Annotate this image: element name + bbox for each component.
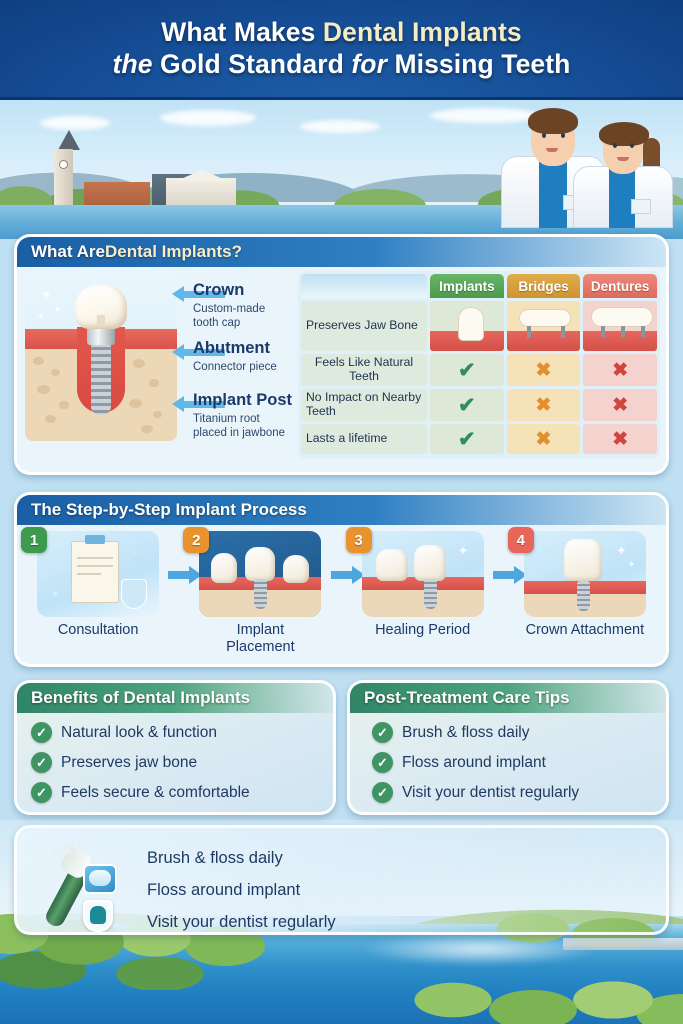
check-icon: ✔ <box>458 360 476 381</box>
row-label-no-impact: No Impact on Nearby Teeth <box>301 389 427 421</box>
part-desc-crown: Custom-made tooth cap <box>193 303 265 330</box>
column-header-dentures: Dentures <box>583 274 657 298</box>
eye <box>613 143 617 148</box>
cell-dentures-feels: ✖ <box>583 354 657 386</box>
clipboard-clip <box>85 535 105 544</box>
tooth-bridge-image <box>507 301 581 351</box>
implant-process-card: The Step-by-Step Implant Process ✦ ✦ 1 <box>14 492 669 667</box>
column-header-implants: Implants <box>430 274 504 298</box>
coat-pocket <box>631 199 651 214</box>
step-2-label: Implant Placement <box>179 622 341 655</box>
care-tip-item: ✓ Visit your dentist regularly <box>372 782 666 803</box>
cross-icon: ✖ <box>536 396 552 415</box>
cell-bridges-feels: ✖ <box>507 354 581 386</box>
cell-dentures-no-impact: ✖ <box>583 389 657 421</box>
check-circle-icon: ✓ <box>372 782 393 803</box>
bottom-tip-label: Brush & floss daily <box>147 849 283 868</box>
check-circle-icon: ✓ <box>372 752 393 773</box>
care-tips-list: ✓ Brush & floss daily ✓ Floss around imp… <box>350 713 666 803</box>
shield-tooth-inner <box>90 906 106 924</box>
implant-post-screw <box>91 343 111 415</box>
clock-tower-spire <box>58 130 80 150</box>
bottom-care-strip: Brush & floss daily Floss around implant… <box>14 825 669 935</box>
sparkle-icon: ✦ <box>129 545 140 561</box>
cell-dentures-preserves <box>583 301 657 351</box>
floss-box-icon <box>83 864 117 894</box>
cell-implants-feels: ✔ <box>430 354 504 386</box>
process-step-1[interactable]: ✦ ✦ 1 Consultation <box>17 525 179 665</box>
benefit-label: Natural look & function <box>61 724 217 742</box>
bottom-tip-item: Brush & floss daily <box>147 842 336 874</box>
tooth-implant-image <box>430 301 504 351</box>
part-title-implant-post: Implant Post <box>193 391 292 410</box>
process-body: ✦ ✦ 1 Consultation 2 <box>17 525 666 667</box>
step-3-number: 3 <box>354 532 362 549</box>
step-4-label: Crown Attachment <box>504 622 666 639</box>
tooth-denture-image <box>583 301 657 351</box>
care-tips-header: Post-Treatment Care Tips <box>350 683 666 713</box>
bottom-tip-item: Visit your dentist regularly <box>147 906 336 935</box>
check-circle-icon: ✓ <box>31 752 52 773</box>
shield-tooth-icon <box>83 900 113 932</box>
eye <box>630 143 634 148</box>
step-2-badge: 2 <box>183 527 209 553</box>
eye <box>542 133 546 138</box>
hair <box>528 108 578 134</box>
clipboard-icon <box>71 541 119 603</box>
scrub-top <box>539 156 567 228</box>
check-circle-icon: ✓ <box>31 782 52 803</box>
step-4-image: ✦ ✦ <box>524 531 646 617</box>
cloud-shape <box>160 110 256 126</box>
sparkle-icon: ✦ <box>458 543 469 559</box>
benefit-item: ✓ Preserves jaw bone <box>31 752 333 773</box>
process-step-2[interactable]: 2 Implant Placement <box>179 525 341 665</box>
step-1-badge: 1 <box>21 527 47 553</box>
cell-implants-no-impact: ✔ <box>430 389 504 421</box>
scrub-top <box>609 166 635 228</box>
title-line2-for: for <box>351 49 394 79</box>
process-step-4[interactable]: ✦ ✦ 4 Crown Attachment <box>504 525 666 665</box>
abutment-part <box>87 327 115 345</box>
care-tips-card: Post-Treatment Care Tips ✓ Brush & floss… <box>347 680 669 815</box>
sparkle-icon: ✦ <box>53 305 61 316</box>
step-3-label: Healing Period <box>342 622 504 639</box>
sparkle-icon: ✦ <box>37 311 45 322</box>
cell-dentures-lasts: ✖ <box>583 424 657 454</box>
sparkle-icon: ✦ <box>41 287 52 303</box>
clock-tower <box>54 149 73 209</box>
title-line2-the: the <box>113 49 161 79</box>
step-1-label: Consultation <box>17 622 179 639</box>
row-label-feels-natural: Feels Like Natural Teeth <box>301 354 427 386</box>
benefit-item: ✓ Feels secure & comfortable <box>31 782 333 803</box>
benefits-card: Benefits of Dental Implants ✓ Natural lo… <box>14 680 336 815</box>
part-desc-implant-post: Titanium root placed in jawbone <box>193 413 285 440</box>
sparkle-icon: ✦ <box>51 589 59 600</box>
shield-tooth-icon <box>121 579 147 609</box>
title-line2-gold-standard: Gold Standard <box>160 49 351 79</box>
eye <box>561 133 565 138</box>
title-line1-highlight: Dental Implants <box>323 17 522 47</box>
benefit-item: ✓ Natural look & function <box>31 722 333 743</box>
check-icon: ✔ <box>458 395 476 416</box>
cell-implants-preserves <box>430 301 504 351</box>
step-4-badge: 4 <box>508 527 534 553</box>
sparkle-icon: ✦ <box>628 559 636 570</box>
what-are-implants-card: What Are Dental Implants? <box>14 234 669 475</box>
part-title-crown: Crown <box>193 281 244 300</box>
bridge <box>563 938 683 950</box>
cell-bridges-preserves <box>507 301 581 351</box>
cell-implants-lasts: ✔ <box>430 424 504 454</box>
part-desc-abutment: Connector piece <box>193 361 277 375</box>
comparison-grid: Implants Bridges Dentures Preserves Jaw … <box>301 274 657 454</box>
row-label-preserves-jaw-bone: Preserves Jaw Bone <box>301 301 427 351</box>
process-step-3[interactable]: ✦ 3 Healing Period <box>342 525 504 665</box>
what-are-implants-body: ✦ ✦ ✦ Crown Custom-made tooth cap Abutme… <box>17 267 666 475</box>
care-tip-label: Brush & floss daily <box>402 724 530 742</box>
bottom-tip-item: Floss around implant <box>147 874 336 906</box>
benefits-header: Benefits of Dental Implants <box>17 683 333 713</box>
process-header: The Step-by-Step Implant Process <box>17 495 666 525</box>
care-tip-label: Visit your dentist regularly <box>402 784 579 802</box>
care-tip-item: ✓ Floss around implant <box>372 752 666 773</box>
title-banner: What Makes Dental Implants the Gold Stan… <box>0 0 683 100</box>
header-text-plain: What Are <box>31 242 105 262</box>
step-3-image: ✦ <box>362 531 484 617</box>
cross-icon: ✖ <box>612 430 628 449</box>
header-text-highlight: Dental Implants? <box>105 242 242 262</box>
row-label-lasts-lifetime: Lasts a lifetime <box>301 424 427 454</box>
benefits-list: ✓ Natural look & function ✓ Preserves ja… <box>17 713 333 803</box>
check-circle-icon: ✓ <box>372 722 393 743</box>
step-1-image: ✦ ✦ <box>37 531 159 617</box>
table-corner-cell <box>301 274 427 298</box>
forest-right <box>393 970 683 1024</box>
title-line1-plain: What Makes <box>161 17 323 47</box>
step-4-number: 4 <box>517 532 525 549</box>
benefit-label: Preserves jaw bone <box>61 754 197 772</box>
cell-bridges-no-impact: ✖ <box>507 389 581 421</box>
dentists-illustration <box>495 100 679 228</box>
cross-icon: ✖ <box>536 430 552 449</box>
cloud-shape <box>40 116 110 130</box>
step-2-image <box>199 531 321 617</box>
what-are-implants-header: What Are Dental Implants? <box>17 237 666 267</box>
cross-icon: ✖ <box>612 396 628 415</box>
step-2-number: 2 <box>192 532 200 549</box>
title-line2-missing-teeth: Missing Teeth <box>394 49 570 79</box>
comparison-table: Implants Bridges Dentures Preserves Jaw … <box>298 271 660 459</box>
cell-bridges-lasts: ✖ <box>507 424 581 454</box>
process-steps: ✦ ✦ 1 Consultation 2 <box>17 525 666 665</box>
building-pediment <box>176 170 228 181</box>
sparkle-icon: ✦ <box>616 543 627 559</box>
check-circle-icon: ✓ <box>31 722 52 743</box>
clock-face-icon <box>59 160 68 169</box>
female-dentist <box>573 116 673 228</box>
care-tip-item: ✓ Brush & floss daily <box>372 722 666 743</box>
check-icon: ✔ <box>458 429 476 450</box>
cross-icon: ✖ <box>536 361 552 380</box>
step-1-number: 1 <box>30 532 38 549</box>
step-3-badge: 3 <box>346 527 372 553</box>
care-tip-label: Floss around implant <box>402 754 546 772</box>
part-title-abutment: Abutment <box>193 339 270 358</box>
crown-notch <box>97 315 105 327</box>
column-header-bridges: Bridges <box>507 274 581 298</box>
bottom-tip-label: Visit your dentist regularly <box>147 913 336 932</box>
bottom-tips-list: Brush & floss daily Floss around implant… <box>147 842 336 935</box>
bottom-tip-label: Floss around implant <box>147 881 300 900</box>
hair <box>599 122 649 146</box>
implant-anatomy-diagram: ✦ ✦ ✦ <box>25 271 177 441</box>
floss-lid <box>89 870 111 886</box>
cross-icon: ✖ <box>612 361 628 380</box>
page-title: What Makes Dental Implants the Gold Stan… <box>0 16 683 81</box>
infographic-page: What Makes Dental Implants the Gold Stan… <box>0 0 683 1024</box>
benefit-label: Feels secure & comfortable <box>61 784 250 802</box>
